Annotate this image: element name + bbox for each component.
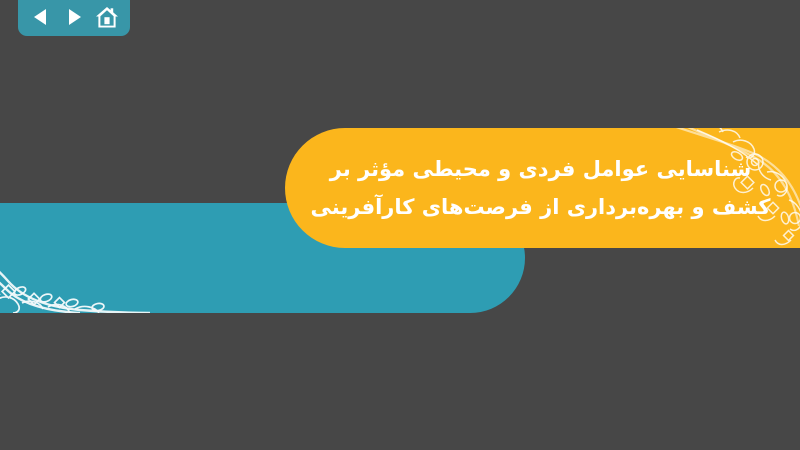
slide-navigation-toolbar (18, 0, 130, 36)
title-line-2: کشف و بهره‌برداری از فرصت‌های کارآفرینی (285, 188, 796, 226)
teal-arabesque-ornament (0, 203, 150, 313)
slide-canvas: شناسایی عوامل فردی و محیطی مؤثر بر کشف و… (0, 0, 800, 450)
home-button[interactable] (93, 3, 121, 31)
slide-title: شناسایی عوامل فردی و محیطی مؤثر بر کشف و… (285, 150, 800, 226)
previous-slide-button[interactable] (27, 3, 55, 31)
home-icon (95, 6, 119, 29)
triangle-right-icon (64, 7, 84, 27)
next-slide-button[interactable] (60, 3, 88, 31)
title-banner: شناسایی عوامل فردی و محیطی مؤثر بر کشف و… (285, 128, 800, 248)
triangle-left-icon (31, 7, 51, 27)
title-line-1: شناسایی عوامل فردی و محیطی مؤثر بر (285, 150, 796, 188)
